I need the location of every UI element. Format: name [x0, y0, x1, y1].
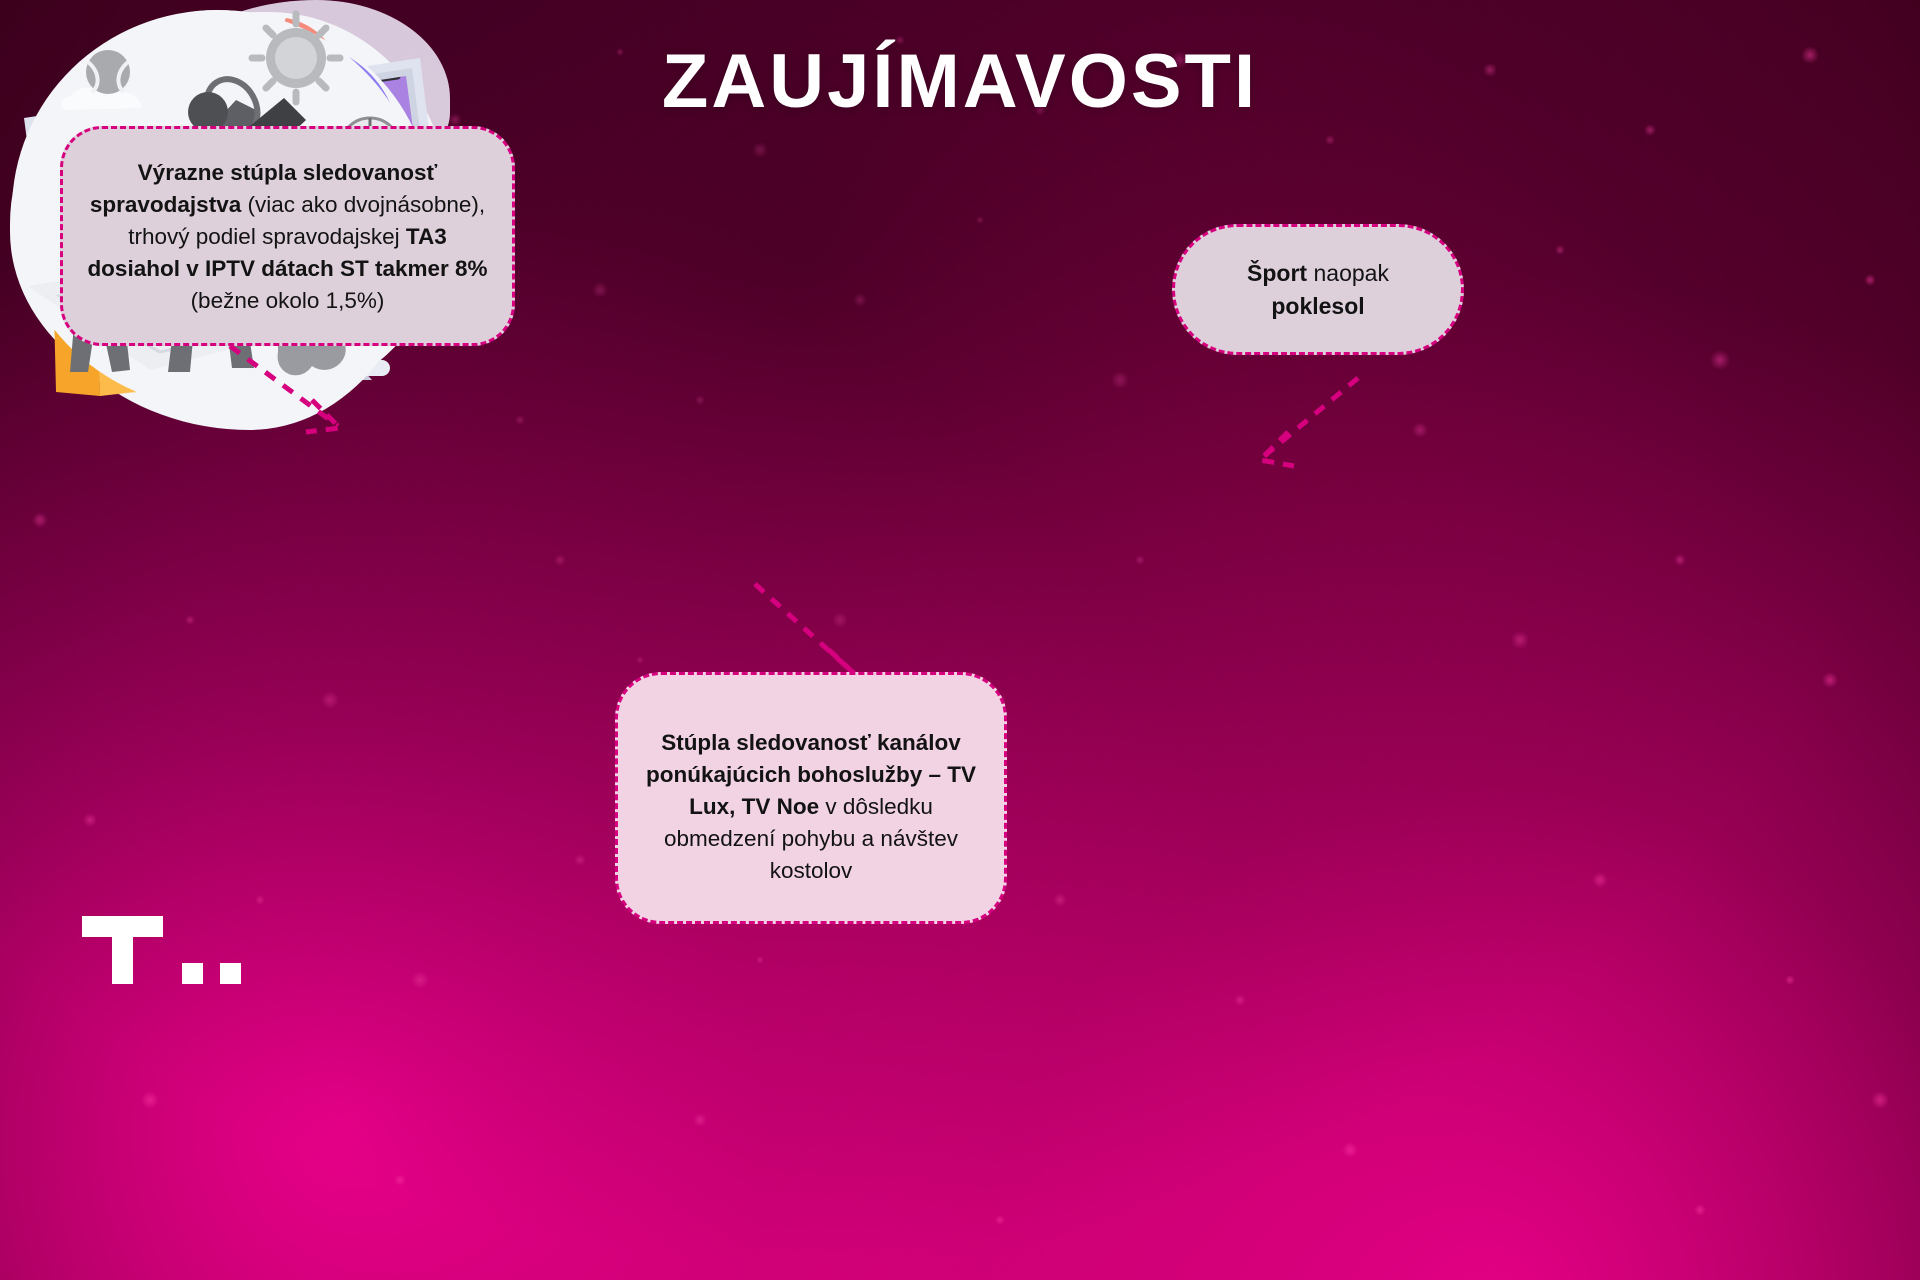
sport-seg-0: Šport	[1247, 260, 1307, 286]
sport-bubble-text: Šport naopak poklesol	[1199, 257, 1437, 322]
sun-icon	[252, 14, 340, 102]
sport-bubble[interactable]: Šport naopak poklesol	[1172, 224, 1464, 355]
sport-seg-2: poklesol	[1271, 293, 1364, 319]
logo-dot-right	[220, 963, 241, 984]
news-bubble[interactable]: Výrazne stúpla sledovanosť spravodajstva…	[60, 126, 515, 346]
logo-t-horizontal	[82, 916, 163, 937]
slide-canvas: ZAUJÍMAVOSTI	[0, 0, 1920, 1280]
news-bubble-text: Výrazne stúpla sledovanosť spravodajstva…	[85, 157, 490, 317]
tennis-ball	[86, 50, 130, 94]
news-seg-3: (bežne okolo 1,5%)	[191, 288, 385, 313]
sport-seg-1: naopak	[1307, 260, 1389, 286]
logo-dot-left	[182, 963, 203, 984]
telekom-logo	[72, 916, 242, 984]
sport-bubble-pointer	[1240, 372, 1370, 482]
bible-illustration	[0, 430, 450, 880]
church-bubble[interactable]: Stúpla sledovanosť kanálov ponúkajúcich …	[615, 672, 1007, 924]
church-bubble-text: Stúpla sledovanosť kanálov ponúkajúcich …	[644, 727, 978, 887]
